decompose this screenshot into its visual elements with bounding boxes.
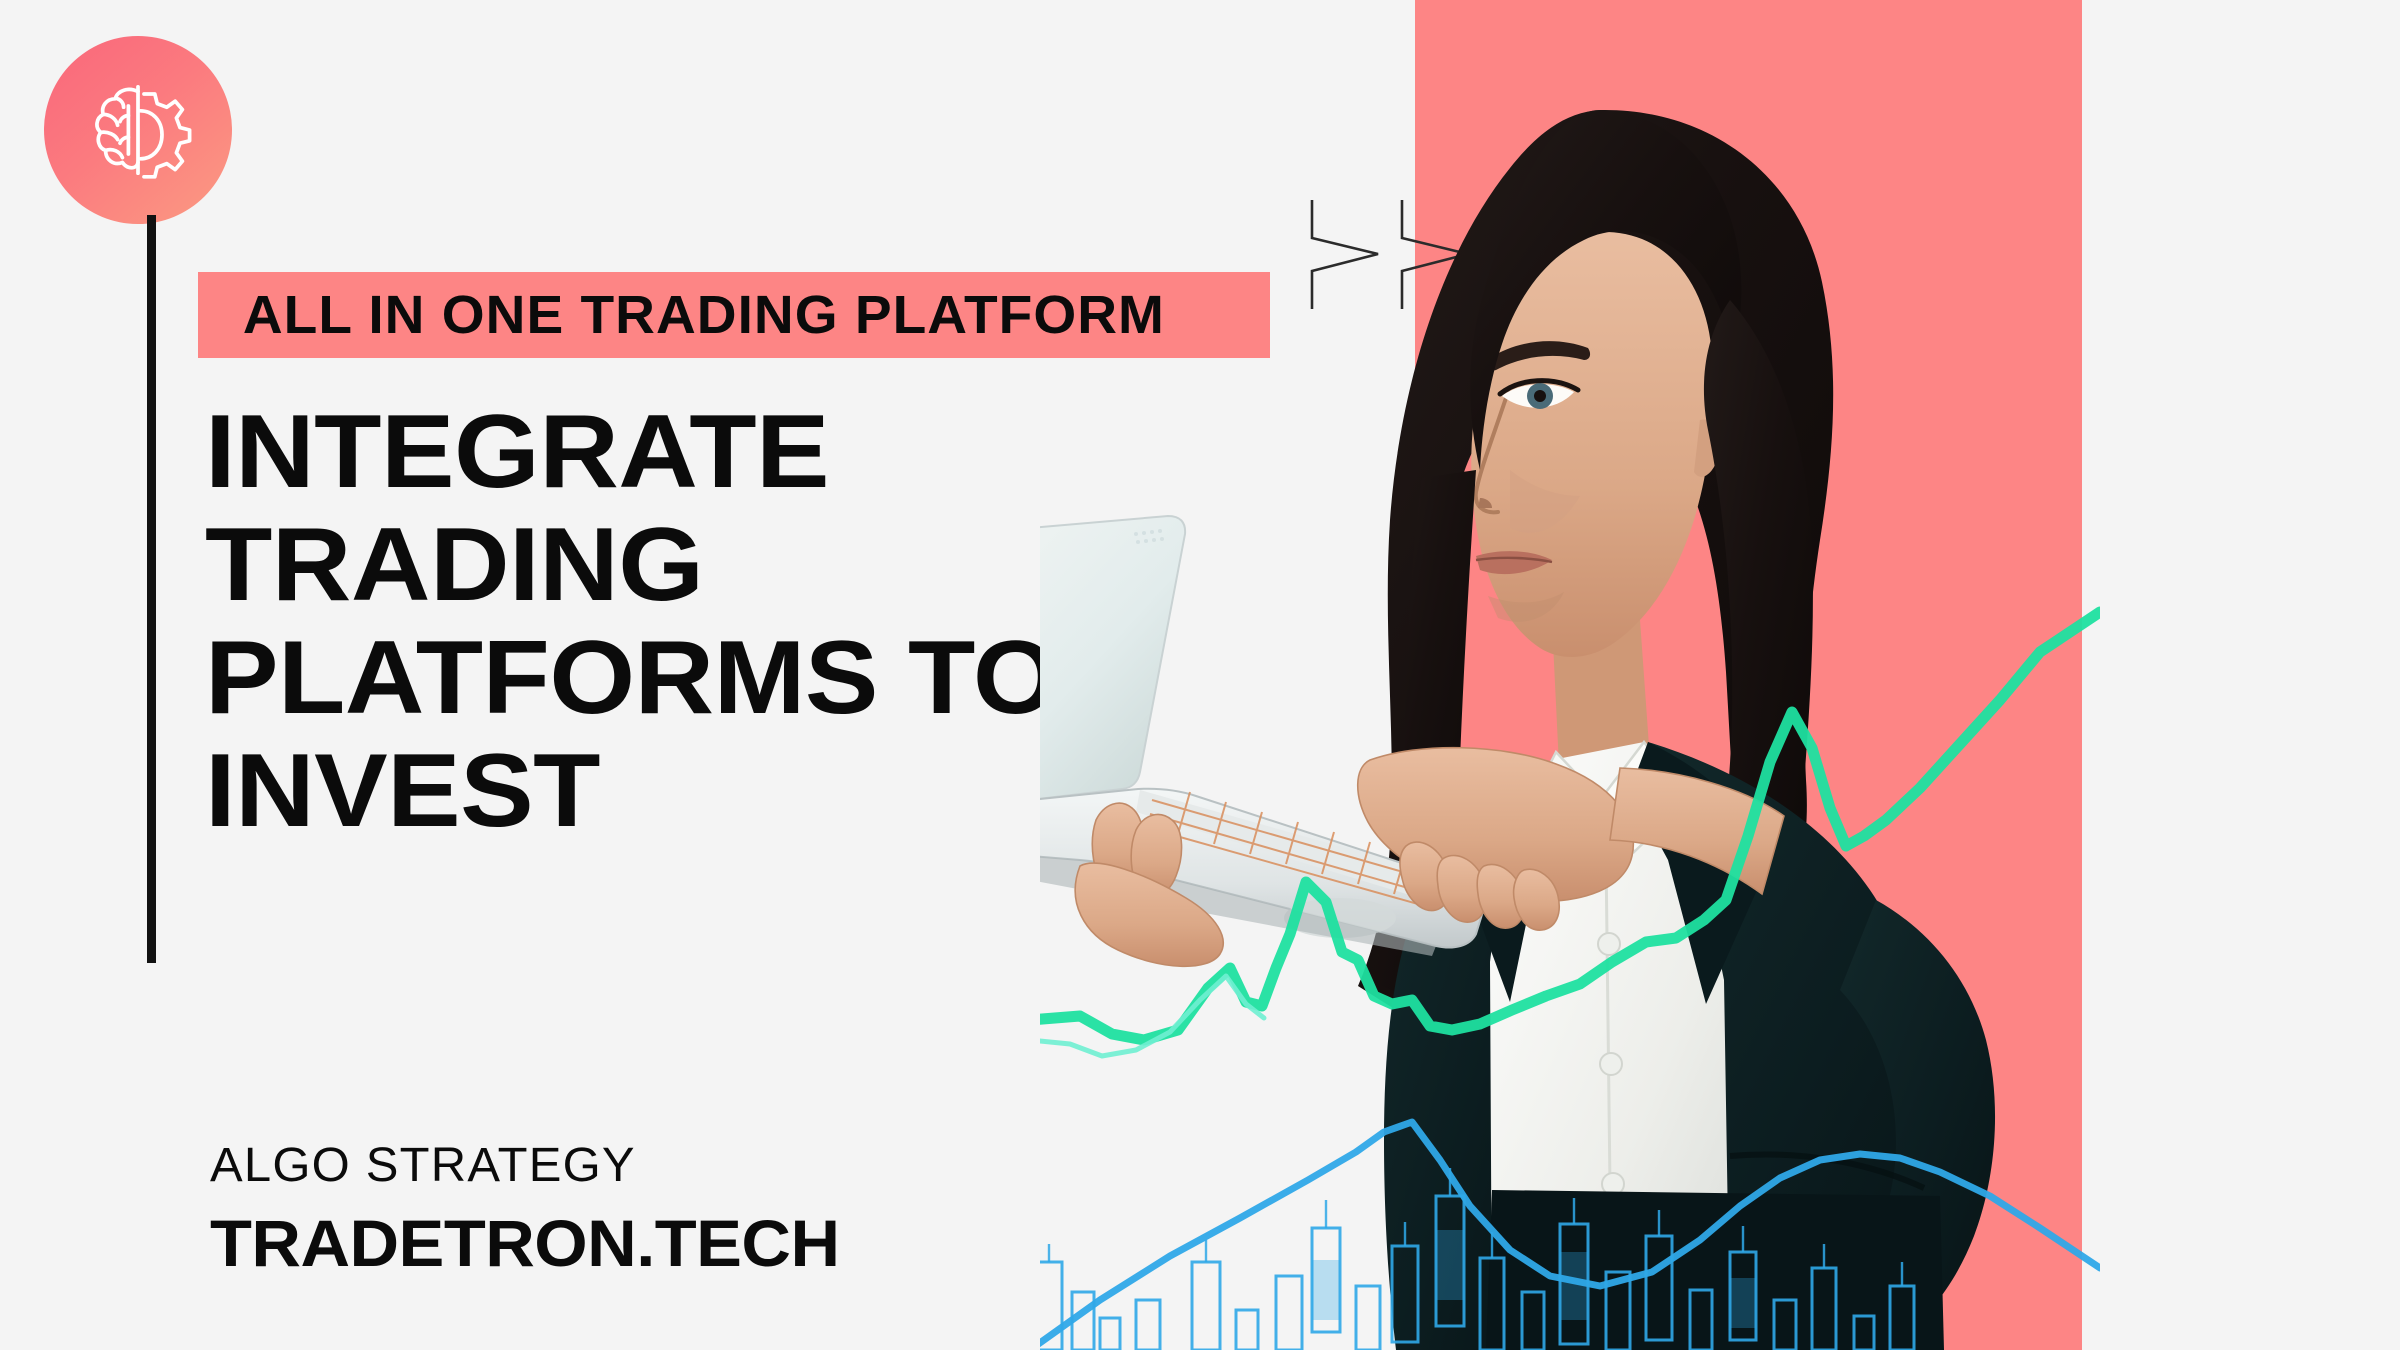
footer-website[interactable]: TRADETRON.TECH	[210, 1205, 840, 1281]
marketing-banner: ALL IN ONE TRADING PLATFORM INTEGRATE TR…	[0, 0, 2400, 1350]
footer-tagline: ALGO STRATEGY	[210, 1138, 827, 1193]
hero-photo	[1040, 0, 2100, 1350]
brand-logo[interactable]	[44, 36, 232, 224]
vertical-divider	[147, 215, 156, 963]
footer-block: ALGO STRATEGY TRADETRON.TECH	[210, 1138, 815, 1281]
eyebrow-label: ALL IN ONE TRADING PLATFORM	[198, 284, 1165, 346]
brain-gear-icon	[78, 70, 198, 190]
